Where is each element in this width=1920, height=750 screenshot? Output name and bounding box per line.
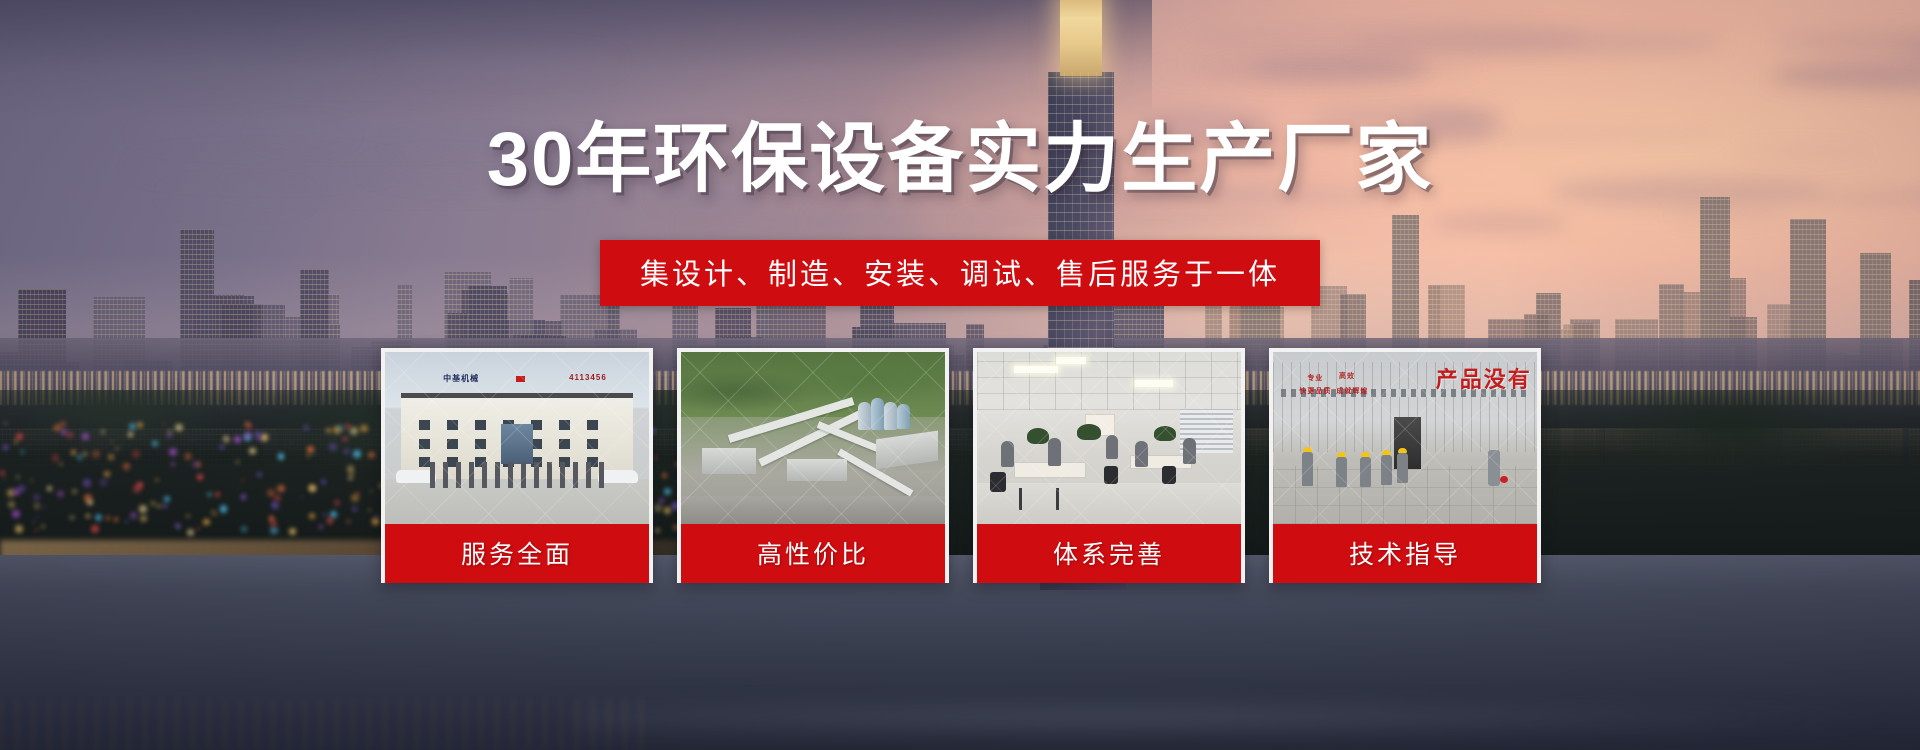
feature-card-row: 中基机械 4113456 服务全面 [381, 348, 1550, 583]
hard-hat-icon [1382, 450, 1391, 455]
office-worker [1183, 438, 1196, 464]
wall-slogan-small-3: 快更品质 [1299, 386, 1331, 396]
card-label-guidance: 技术指导 [1273, 524, 1537, 583]
potted-plant [1027, 428, 1049, 444]
office-floor [977, 483, 1241, 524]
staff-figure [586, 462, 591, 488]
supervisor-figure [1488, 450, 1500, 486]
plant-access-road [681, 496, 945, 524]
page-title: 30年环保设备实力生产厂家 [0, 122, 1920, 198]
card-label-system: 体系完善 [977, 524, 1241, 583]
parked-car [598, 470, 638, 483]
worker-figure [1397, 453, 1408, 483]
staff-figure [430, 462, 435, 488]
office-worker [1135, 441, 1148, 467]
ceiling-light-panel [1056, 357, 1086, 364]
wall-slogan-small-1: 专业 [1307, 373, 1323, 383]
plant-shed [876, 430, 938, 469]
staff-figure [443, 462, 448, 488]
wall-slogan-small-4: 成就辉煌 [1336, 386, 1368, 396]
office-worker [1106, 435, 1118, 459]
potted-plant [1077, 424, 1101, 440]
hard-hat-icon [1398, 448, 1407, 453]
potted-plant [1154, 426, 1176, 441]
worker-figure [1302, 452, 1313, 486]
card-photo-office-interior [977, 352, 1241, 524]
water-reflections [0, 699, 653, 750]
card-label-service: 服务全面 [385, 524, 649, 583]
staff-figure [534, 462, 539, 488]
wall-slogan-small-2: 高效 [1339, 371, 1355, 381]
building-sign-label: 中基机械 [443, 373, 479, 384]
staff-figure [599, 462, 604, 488]
worker-figure [1381, 455, 1392, 485]
plant-shed [702, 448, 756, 474]
storage-silo [871, 398, 884, 430]
desk-leg [1056, 488, 1059, 510]
desk-leg [1019, 488, 1022, 510]
subtitle-banner: 集设计、制造、安装、调试、售后服务于一体 [600, 240, 1320, 306]
hard-hat-icon [1337, 452, 1346, 457]
hero-banner: 30年环保设备实力生产厂家 集设计、制造、安装、调试、售后服务于一体 中基机械 … [0, 0, 1920, 750]
staff-figure [521, 462, 526, 488]
office-worker [1048, 438, 1061, 466]
flag-icon [516, 376, 525, 382]
staff-figure [547, 462, 552, 488]
card-photo-company-building: 中基机械 4113456 [385, 352, 649, 524]
office-worker [1001, 441, 1014, 467]
wall-slogan-large: 产品没有 [1436, 362, 1532, 394]
building-entrance [501, 424, 534, 465]
worker-figure [1360, 457, 1371, 487]
card-photo-industrial-plant [681, 352, 945, 524]
staff-figure [508, 462, 513, 488]
office-chair [1104, 466, 1118, 484]
worker-figure [1336, 457, 1347, 487]
staff-figure [456, 462, 461, 488]
card-label-value: 高性价比 [681, 524, 945, 583]
subtitle-bar-wrapper: 集设计、制造、安装、调试、售后服务于一体 [0, 240, 1920, 306]
ceiling-light-panel [1014, 366, 1058, 373]
feature-card-guidance[interactable]: 产品没有 专业 高效 快更品质 成就辉煌 技术指导 [1269, 348, 1541, 583]
staff-figure [573, 462, 578, 488]
storage-silo [858, 402, 871, 430]
staff-figure [495, 462, 500, 488]
staff-figure [482, 462, 487, 488]
card-photo-factory-workers: 产品没有 专业 高效 快更品质 成就辉煌 [1273, 352, 1537, 524]
staff-figure [560, 462, 565, 488]
river-water [0, 555, 1920, 750]
office-chair [1162, 466, 1176, 484]
feature-card-system[interactable]: 体系完善 [973, 348, 1245, 583]
hard-hat-icon [1303, 447, 1312, 452]
feature-card-service[interactable]: 中基机械 4113456 服务全面 [381, 348, 653, 583]
water-sheen [576, 699, 1920, 738]
office-chair [990, 472, 1006, 492]
storage-silo [884, 402, 897, 430]
storage-silo [897, 404, 910, 429]
ceiling-light-panel [1135, 380, 1173, 387]
plant-shed [787, 459, 847, 481]
hard-hat-icon [1361, 452, 1370, 457]
staff-lineup [430, 462, 604, 488]
staff-figure [469, 462, 474, 488]
red-helmet-icon [1500, 476, 1508, 483]
feature-card-value[interactable]: 高性价比 [677, 348, 949, 583]
tower-illuminated-crown [1060, 0, 1102, 76]
office-ceiling [977, 352, 1241, 410]
building-phone-label: 4113456 [569, 373, 607, 382]
